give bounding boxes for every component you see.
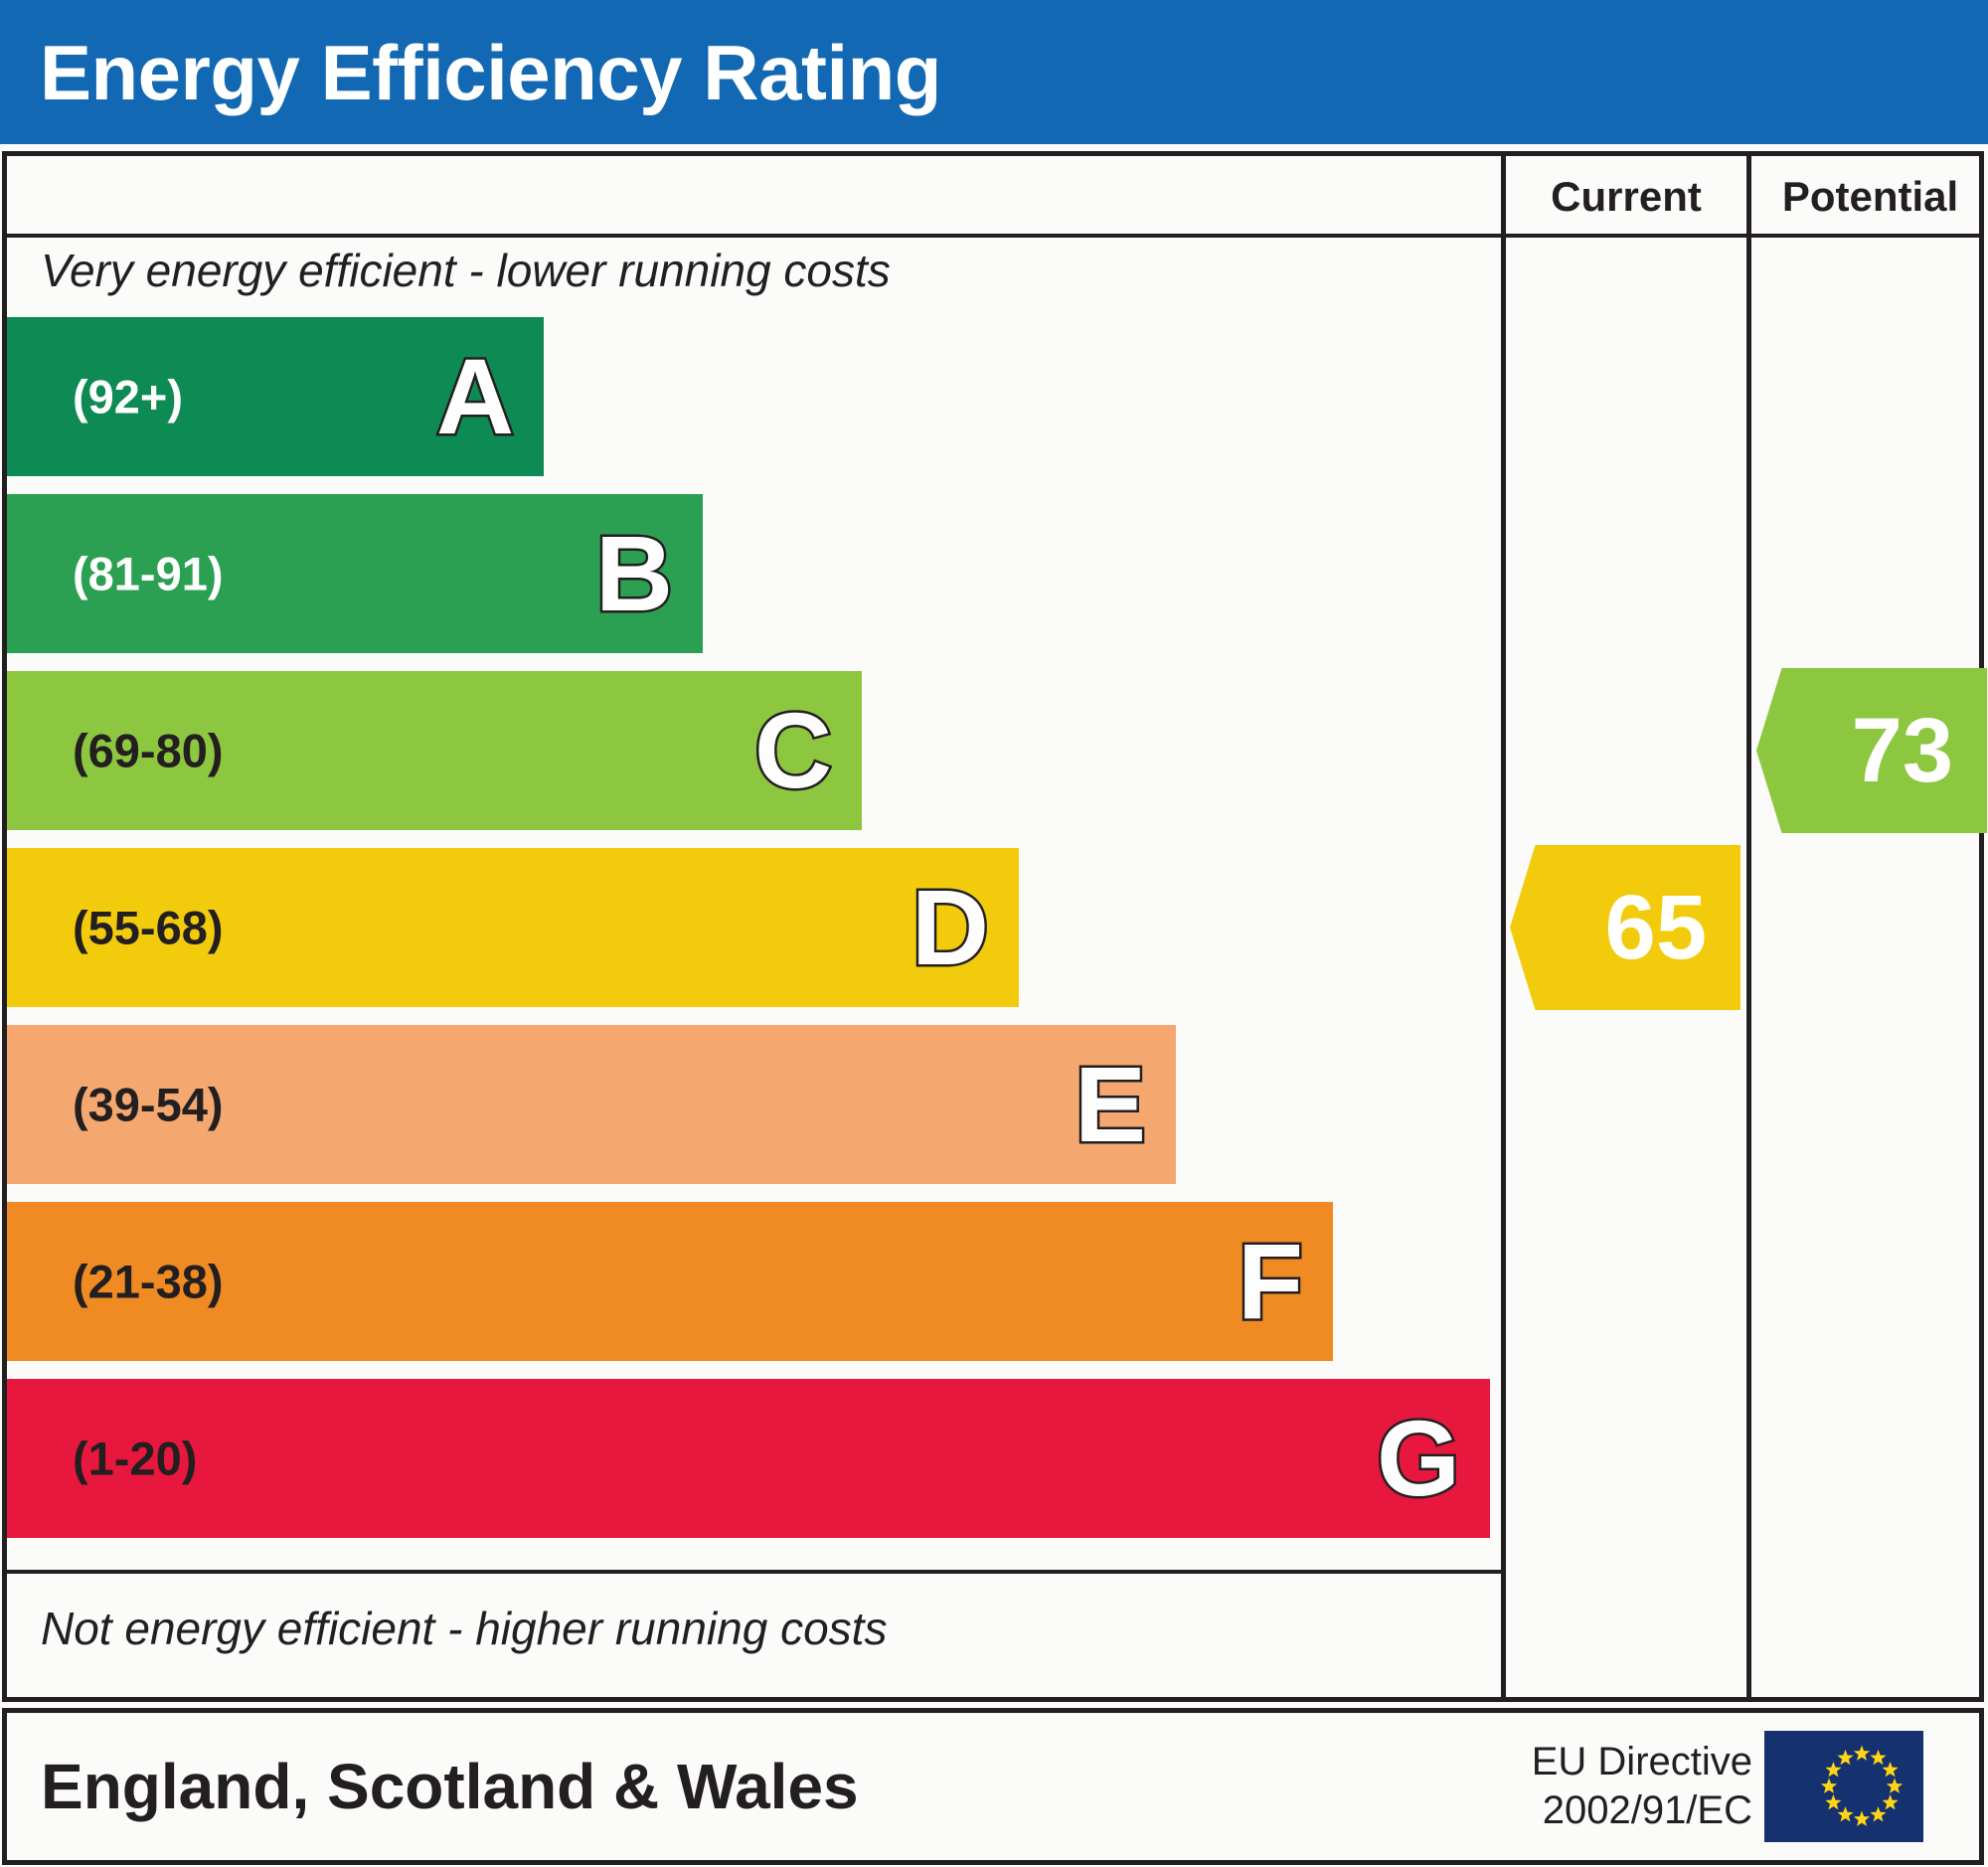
caption-not-efficient: Not energy efficient - higher running co…: [41, 1606, 887, 1651]
band-bar-d: (55-68)D: [7, 848, 1019, 1007]
eu-flag-icon: [1764, 1731, 1923, 1842]
band-range-g: (1-20): [73, 1436, 197, 1482]
rating-arrow-current: 65: [1510, 845, 1740, 1010]
band-range-c: (69-80): [73, 728, 224, 774]
chart-body: Current Potential Very energy efficient …: [2, 151, 1984, 1702]
footer-directive-label: EU Directive 2002/91/EC: [1532, 1738, 1752, 1835]
band-range-d: (55-68): [73, 905, 224, 951]
chart-footer: England, Scotland & Wales EU Directive 2…: [2, 1708, 1984, 1865]
band-bar-c: (69-80)C: [7, 671, 862, 830]
potential-column-divider: [1746, 156, 1751, 1697]
band-range-e: (39-54): [73, 1082, 224, 1128]
band-bar-a: (92+)A: [7, 317, 544, 476]
band-letter-b: B: [595, 520, 673, 627]
band-range-b: (81-91): [73, 551, 224, 597]
band-letter-c: C: [754, 697, 832, 804]
band-list: (92+)A(81-91)B(69-80)C(55-68)D(39-54)E(2…: [7, 317, 1501, 1568]
band-letter-a: A: [436, 343, 514, 450]
footer-region-label: England, Scotland & Wales: [41, 1755, 859, 1818]
band-letter-f: F: [1238, 1228, 1303, 1335]
current-column-divider: [1501, 156, 1506, 1697]
band-range-a: (92+): [73, 374, 183, 421]
band-range-f: (21-38): [73, 1259, 224, 1305]
directive-line-2: 2002/91/EC: [1532, 1786, 1752, 1835]
band-letter-e: E: [1075, 1051, 1146, 1158]
footer-divider: [7, 1570, 1501, 1574]
band-bar-b: (81-91)B: [7, 494, 703, 653]
energy-efficiency-rating-chart: Energy Efficiency Rating Current Potenti…: [0, 0, 1988, 1867]
caption-very-efficient: Very energy efficient - lower running co…: [41, 248, 891, 293]
title-banner: Energy Efficiency Rating: [0, 0, 1988, 144]
eu-flag-stars-icon: [1764, 1731, 1923, 1842]
band-bar-g: (1-20)G: [7, 1379, 1490, 1538]
band-letter-g: G: [1377, 1405, 1460, 1512]
directive-line-1: EU Directive: [1532, 1738, 1752, 1786]
column-header-current: Current: [1506, 162, 1746, 232]
band-letter-d: D: [911, 874, 989, 981]
rating-value-current: 65: [1605, 882, 1740, 973]
band-bar-f: (21-38)F: [7, 1202, 1333, 1361]
page-title: Energy Efficiency Rating: [40, 34, 941, 111]
rating-value-potential: 73: [1852, 705, 1987, 796]
band-bar-e: (39-54)E: [7, 1025, 1176, 1184]
rating-arrow-potential: 73: [1756, 668, 1987, 833]
column-header-potential: Potential: [1751, 162, 1988, 232]
header-divider: [7, 234, 1979, 238]
